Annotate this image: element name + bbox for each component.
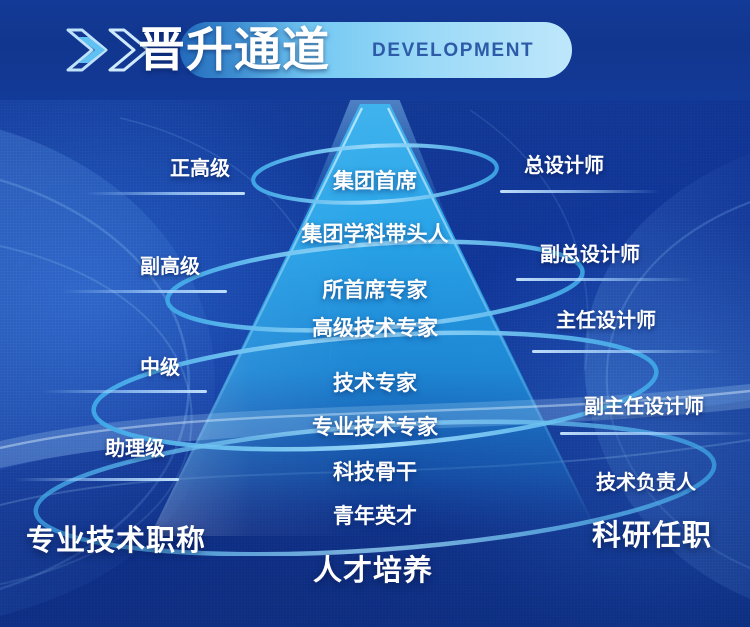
right-role-label: 副总设计师: [540, 244, 640, 266]
left-level-label: 正高级: [60, 158, 230, 180]
left-divider: [85, 192, 245, 195]
right-role-label: 副主任设计师: [584, 396, 704, 418]
left-level-label: 副高级: [30, 256, 200, 278]
center-caption: 人才培养: [313, 555, 433, 587]
right-caption: 科研任职: [592, 520, 712, 552]
header: 晋升通道 DEVELOPMENT: [0, 0, 750, 100]
right-divider: [516, 278, 694, 281]
left-divider: [42, 390, 207, 393]
right-role-label: 技术负责人: [596, 472, 696, 494]
right-divider: [560, 432, 750, 435]
left-level-label: 助理级: [0, 438, 165, 460]
page-subtitle-en: DEVELOPMENT: [372, 41, 534, 61]
left-level-label: 中级: [10, 357, 180, 379]
left-caption: 专业技术职称: [26, 525, 206, 557]
left-divider: [14, 478, 179, 481]
promotion-channel-poster: 晋升通道 DEVELOPMENT 集团首席 集团学科带头人 所首席专家 高级技术…: [0, 0, 750, 627]
right-role-label: 主任设计师: [556, 310, 656, 332]
right-divider: [500, 190, 660, 193]
page-title: 晋升通道: [138, 24, 330, 76]
left-divider: [62, 290, 227, 293]
right-role-label: 总设计师: [524, 155, 604, 177]
right-divider: [532, 350, 724, 353]
